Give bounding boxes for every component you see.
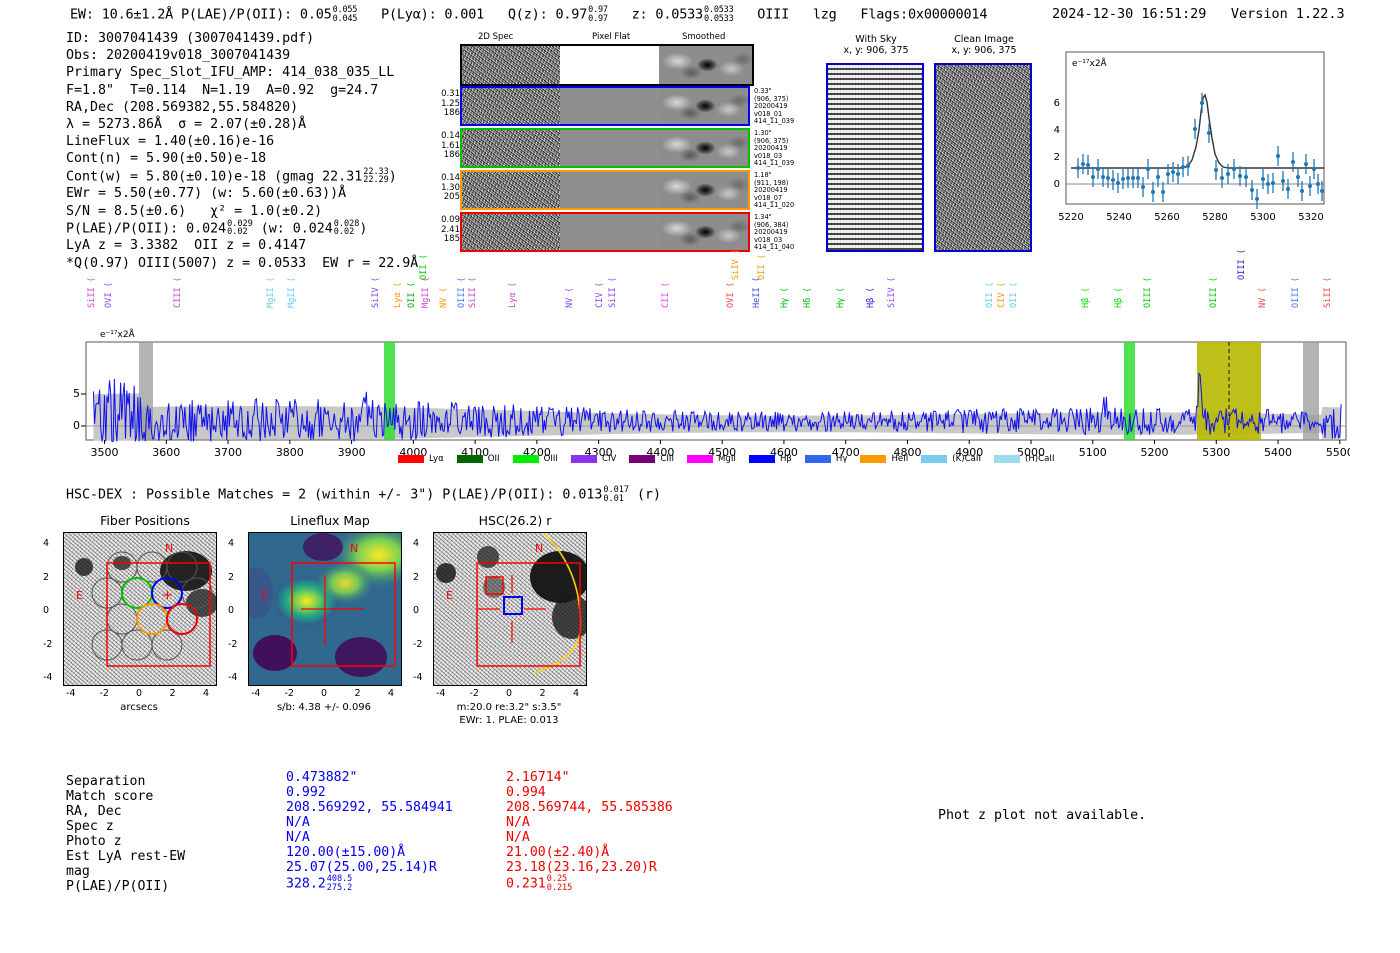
- svg-text:6: 6: [1054, 98, 1060, 109]
- legend-swatch: [860, 455, 886, 463]
- match1-separation: 0.473882": [286, 770, 357, 785]
- info-id: ID: 3007041439 (3007041439.pdf): [66, 30, 418, 47]
- svg-text:E: E: [446, 589, 453, 602]
- spectrum-xtick-3500: 3500: [91, 446, 119, 459]
- info-plae: P(LAE)/P(OII): 0.0240.0290.02 (w: 0.0240…: [66, 220, 418, 238]
- emission-line-fit-plot: e⁻¹⁷x2Å 0 2 4 6 5220 5240 5260 5280 5300…: [1038, 50, 1328, 235]
- weighted-sum-row: [460, 44, 754, 86]
- svg-text:0: 0: [73, 419, 80, 432]
- col-title-pixelflat: Pixel Flat: [592, 32, 630, 42]
- legend-label: Lyα: [429, 454, 444, 464]
- match-label-specz: Spec z: [66, 819, 114, 834]
- svg-text:5300: 5300: [1250, 212, 1275, 223]
- info-plae-w-uncertainty: 0.0280.02: [334, 220, 360, 237]
- hsc-r-image[interactable]: N E: [433, 532, 587, 686]
- line-label-oiii-33: OIII (: [1209, 277, 1219, 308]
- cutout-0-xtick-3: 2: [170, 688, 176, 699]
- svg-text:N: N: [350, 542, 358, 555]
- match-label-plae: P(LAE)/P(OII): [66, 879, 169, 894]
- qz-uncertainty: 0.970.97: [588, 6, 608, 23]
- info-seeing: F=1.8" T=0.114 N=1.19 A=0.92 g=24.7: [66, 82, 418, 99]
- match1-specz: N/A: [286, 815, 310, 830]
- spectrum-xtick-5100: 5100: [1079, 446, 1107, 459]
- cutout-1-xtick-3: 2: [355, 688, 361, 699]
- legend-label: MgII: [718, 454, 736, 464]
- legend-item-ly: Lyα: [398, 454, 444, 464]
- legend-swatch: [457, 455, 483, 463]
- source-info-block: ID: 3007041439 (3007041439.pdf) Obs: 202…: [66, 30, 418, 272]
- cutout-0-xtick-4: 4: [203, 688, 209, 699]
- legend-label: CIV: [602, 454, 616, 464]
- gmag-uncertainty: 22.3322.29: [363, 168, 389, 185]
- cutout-0-xtick-0: -4: [66, 688, 75, 699]
- emission-line-labels: SiII (OVI (CIII (MgII (MgII (SiIV (Lyα (…: [60, 268, 1350, 343]
- header-plya: P(Lyα): 0.001: [381, 7, 484, 23]
- header-ew-plae: EW: 10.6±1.2Å P(LAE)/P(OII): 0.05: [70, 7, 332, 23]
- line-label-nv-14: NV (: [565, 287, 575, 308]
- line-label-h-25: Hβ (: [866, 287, 876, 308]
- legend-item-hcaii: (H)CaII: [994, 454, 1055, 464]
- line-label-mgii-8: MgII (: [421, 277, 431, 308]
- band-oii: [384, 342, 395, 440]
- fiber-row-0[interactable]: [460, 86, 750, 126]
- header-qz: Q(z): 0.97: [508, 7, 587, 23]
- header-right: 2024-12-30 16:51:29 Version 1.22.3: [1052, 6, 1345, 22]
- cutout-1-xtick-1: -2: [285, 688, 294, 699]
- line-label-siii-37: SiII (: [1323, 277, 1333, 308]
- line-label-ciii-2: CIII (: [173, 277, 183, 308]
- line-label-ovi-18: OVI (: [726, 282, 736, 308]
- cutout-2-xtick-2: 0: [506, 688, 512, 699]
- info-primary-spec: Primary Spec_Slot_IFU_AMP: 414_038_035_L…: [66, 64, 418, 81]
- info-radec: RA,Dec (208.569382,55.584820): [66, 99, 418, 116]
- fiber-positions-xlabel: arcsecs: [63, 702, 215, 713]
- plae-uncertainty: 0.0550.045: [333, 6, 358, 23]
- svg-text:2: 2: [1054, 152, 1060, 163]
- line-label-h-30: Hβ (: [1081, 287, 1091, 308]
- line-label-ovi-1: OVI (: [104, 282, 114, 308]
- header-summary-line: EW: 10.6±1.2Å P(LAE)/P(OII): 0.050.0550.…: [70, 6, 987, 23]
- cutout-0-ytick-4: -4: [43, 672, 52, 683]
- line-label-h-24: Hγ (: [836, 287, 846, 308]
- match-label-score: Match score: [66, 789, 153, 804]
- spectrum-xtick-3800: 3800: [276, 446, 304, 459]
- legend-swatch: [629, 455, 655, 463]
- match-label-mag: mag: [66, 864, 90, 879]
- fiber-2-meta: 1.18" (911, 198) 20200419 v018_07 414_11…: [754, 172, 794, 210]
- header-flags: Flags:0x00000014: [860, 7, 987, 23]
- fiber-0-stats: 0.311.25186: [426, 90, 460, 119]
- lineflux-map-title: Lineflux Map: [245, 513, 415, 528]
- legend-item-mgii: MgII: [687, 454, 736, 464]
- line-label-oiii-36: OIII (: [1291, 277, 1301, 308]
- legend-label: OII: [488, 454, 500, 464]
- fit-unit-label: e⁻¹⁷x2Å: [1072, 57, 1108, 69]
- spectrum-legend: LyαOIIOIIICIVCIIIMgIIHβHγHeII(K)CaII(H)C…: [398, 448, 1068, 467]
- cutout-0-xtick-1: -2: [100, 688, 109, 699]
- match1-mag: 25.07(25.00,25.14)R: [286, 860, 437, 875]
- report-datetime: 2024-12-30 16:51:29: [1052, 6, 1206, 22]
- fiber-3-meta: 1.34" (906, 384) 20200419 v018_03 414_11…: [754, 214, 794, 252]
- col-title-2dspec: 2D Spec: [478, 32, 513, 42]
- spectrum-xtick-5500: 5500: [1326, 446, 1350, 459]
- hsc-plae-uncertainty: 0.0170.01: [603, 486, 629, 503]
- spectrum-xtick-5300: 5300: [1202, 446, 1230, 459]
- line-label-h-23: Hδ (: [803, 287, 813, 308]
- header-z: z: 0.0533: [632, 7, 703, 23]
- spectrum-xtick-5200: 5200: [1141, 446, 1169, 459]
- info-plae-uncertainty: 0.0290.02: [227, 220, 253, 237]
- legend-item-ciii: CIII: [629, 454, 674, 464]
- cutout-2-xtick-1: -2: [470, 688, 479, 699]
- fiber-row-1[interactable]: [460, 128, 750, 168]
- match-label-separation: Separation: [66, 774, 145, 789]
- full-spectrum-panel: SiII (OVI (CIII (MgII (MgII (SiIV (Lyα (…: [60, 268, 1350, 473]
- hsc-r-title: HSC(26.2) r: [430, 513, 600, 528]
- legend-label: (H)CaII: [1025, 454, 1055, 464]
- line-label-civ-28: CIV (: [997, 282, 1007, 308]
- fiber-3-stats: 0.092.41185: [426, 216, 460, 245]
- spectrum-xtick-5400: 5400: [1264, 446, 1292, 459]
- line-label-h-22: Hγ (: [780, 287, 790, 308]
- line-label-nv-9: NV (: [439, 287, 449, 308]
- header-tag: lzg: [813, 7, 837, 23]
- line-label-oiii-11: OIII (: [457, 277, 467, 308]
- hsc-dex-headline: HSC-DEX : Possible Matches = 2 (within +…: [66, 486, 661, 503]
- line-label-oii-27: OII (: [985, 282, 995, 308]
- cutout-0-ytick-1: 2: [43, 572, 49, 583]
- clean-image-title: Clean Imagex, y: 906, 375: [934, 34, 1034, 56]
- cutout-0-xtick-2: 0: [136, 688, 142, 699]
- cutout-1-ytick-3: -2: [228, 639, 237, 650]
- fiber-1-meta: 1.30" (906, 375) 20200419 v018_03 414_11…: [754, 130, 794, 168]
- info-ewr: EWr = 5.50(±0.77) (w: 5.60(±0.63))Å: [66, 185, 418, 202]
- svg-text:E: E: [261, 589, 268, 602]
- legend-item-h: Hβ: [749, 454, 792, 464]
- match1-plae: 328.2408.5275.2: [286, 875, 352, 892]
- match1-plae-uncertainty: 408.5275.2: [327, 875, 353, 892]
- fiber-0-meta: 0.33" (906, 375) 20200419 v018_01 414_11…: [754, 88, 794, 126]
- match1-photoz: N/A: [286, 830, 310, 845]
- cutout-2-ytick-1: 2: [413, 572, 419, 583]
- fiber-row-2[interactable]: [460, 170, 750, 210]
- cutout-0-ytick-3: -2: [43, 639, 52, 650]
- line-label-siii-0: SiII (: [87, 277, 97, 308]
- legend-swatch: [398, 455, 424, 463]
- legend-item-civ: CIV: [571, 454, 616, 464]
- cutout-2-xtick-4: 4: [573, 688, 579, 699]
- cutout-1-ytick-1: 2: [228, 572, 234, 583]
- legend-label: HeII: [891, 454, 908, 464]
- fiber-positions-image[interactable]: N E +: [63, 532, 217, 686]
- line-label-siii-16: SiII (: [608, 277, 618, 308]
- line-label-oii-10: OII (: [419, 254, 429, 280]
- spectrum-svg: 0 5 350036003700380039004000410042004300…: [60, 340, 1350, 465]
- svg-text:5220: 5220: [1058, 212, 1083, 223]
- line-label-siiv-5: SiIV (: [371, 277, 381, 308]
- cutout-2-ytick-0: 4: [413, 538, 419, 549]
- spectrum-unit-label: e⁻¹⁷x2Å: [100, 330, 135, 340]
- line-label-siiv-19: SiIV (: [731, 249, 741, 280]
- legend-item-oii: OII: [457, 454, 500, 464]
- match1-radec: 208.569292, 55.584941: [286, 800, 453, 815]
- col-title-smoothed: Smoothed: [682, 32, 725, 42]
- match2-photoz: N/A: [506, 830, 530, 845]
- svg-text:N: N: [535, 542, 543, 555]
- line-label-oiii-34: OIII (: [1237, 249, 1247, 280]
- line-label-ly-6: Lyα (: [393, 282, 403, 308]
- lineflux-map-image[interactable]: N E: [248, 532, 402, 686]
- svg-text:5240: 5240: [1106, 212, 1131, 223]
- info-obs: Obs: 20200419v018_3007041439: [66, 47, 418, 64]
- legend-label: Hβ: [780, 454, 792, 464]
- cutout-2-ytick-2: 0: [413, 605, 419, 616]
- svg-text:5280: 5280: [1202, 212, 1227, 223]
- legend-label: (K)CaII: [952, 454, 981, 464]
- fiber-row-3[interactable]: [460, 212, 750, 252]
- fiber-1-stats: 0.141.61186: [426, 132, 460, 161]
- match2-estlyaew: 21.00(±2.40)Å: [506, 845, 609, 860]
- line-label-heii-20: HeII (: [752, 277, 762, 308]
- line-label-cii-17: CII (: [661, 282, 671, 308]
- legend-swatch: [921, 455, 947, 463]
- cutout-0-ytick-2: 0: [43, 605, 49, 616]
- line-label-siiv-26: SiIV (: [887, 277, 897, 308]
- line-label-ly-13: Lyα (: [508, 282, 518, 308]
- info-lineflux: LineFlux = 1.40(±0.16)e-16: [66, 133, 418, 150]
- svg-text:E: E: [76, 589, 83, 602]
- header-classification: OIII: [757, 7, 789, 23]
- clean-image[interactable]: [934, 63, 1032, 252]
- fit-plot-svg: e⁻¹⁷x2Å 0 2 4 6 5220 5240 5260 5280 5300…: [1038, 50, 1328, 250]
- cutout-1-xtick-4: 4: [388, 688, 394, 699]
- cutout-2-xtick-3: 2: [540, 688, 546, 699]
- with-sky-image[interactable]: [826, 63, 924, 252]
- match2-plae-uncertainty: 0.250.215: [547, 875, 573, 892]
- cutout-1-ytick-2: 0: [228, 605, 234, 616]
- fiber-2-stats: 0.141.30205: [426, 174, 460, 203]
- match2-separation: 2.16714": [506, 770, 570, 785]
- legend-label: CIII: [660, 454, 674, 464]
- spectrum-xtick-3600: 3600: [152, 446, 180, 459]
- legend-item-oiii: OIII: [513, 454, 558, 464]
- legend-swatch: [687, 455, 713, 463]
- line-label-oiii-32: OIII (: [1143, 277, 1153, 308]
- line-label-siii-12: SiII (: [468, 277, 478, 308]
- match1-score: 0.992: [286, 785, 326, 800]
- line-label-civ-15: CIV (: [595, 282, 605, 308]
- line-label-nv-35: NV (: [1258, 287, 1268, 308]
- lineflux-map-sub: s/b: 4.38 +/- 0.096: [238, 702, 410, 713]
- match2-plae: 0.2310.250.215: [506, 875, 572, 892]
- legend-swatch: [805, 455, 831, 463]
- match2-specz: N/A: [506, 815, 530, 830]
- legend-swatch: [994, 455, 1020, 463]
- line-label-h-31: Hβ (: [1114, 287, 1124, 308]
- match-label-photoz: Photo z: [66, 834, 122, 849]
- hsc-r-sub2: EWr: 1. PLAE: 0.013: [423, 715, 595, 726]
- svg-text:0: 0: [1054, 179, 1060, 190]
- legend-swatch: [513, 455, 539, 463]
- svg-text:5260: 5260: [1154, 212, 1179, 223]
- legend-item-kcaii: (K)CaII: [921, 454, 981, 464]
- legend-swatch: [749, 455, 775, 463]
- match-table: Separation Match score RA, Dec Spec z Ph…: [66, 774, 766, 896]
- line-label-mgii-3: MgII (: [266, 277, 276, 308]
- with-sky-title: With Skyx, y: 906, 375: [826, 34, 926, 56]
- z-uncertainty: 0.05330.0533: [704, 6, 734, 23]
- cutout-1-ytick-4: -4: [228, 672, 237, 683]
- line-label-mgii-4: MgII (: [287, 277, 297, 308]
- photz-note: Phot z plot not available.: [938, 808, 1146, 823]
- hsc-r-sub: m:20.0 re:3.2" s:3.5": [423, 702, 595, 713]
- cutout-1-xtick-0: -4: [251, 688, 260, 699]
- legend-swatch: [571, 455, 597, 463]
- info-lambda-sigma: λ = 5273.86Å σ = 2.07(±0.28)Å: [66, 116, 418, 133]
- svg-text:5320: 5320: [1298, 212, 1323, 223]
- cutout-1-xtick-2: 0: [321, 688, 327, 699]
- line-label-oii-21: OII (: [757, 254, 767, 280]
- legend-item-heii: HeII: [860, 454, 908, 464]
- legend-item-h: Hγ: [805, 454, 848, 464]
- info-sn-chi2: S/N = 8.5(±0.6) χ² = 1.0(±0.2): [66, 203, 418, 220]
- match2-score: 0.994: [506, 785, 546, 800]
- info-cont-w: Cont(w) = 5.80(±0.10)e-18 (gmag 22.3122.…: [66, 168, 418, 186]
- legend-label: OIII: [544, 454, 558, 464]
- info-cont-n: Cont(n) = 5.90(±0.50)e-18: [66, 150, 418, 167]
- spectrum-xtick-3700: 3700: [214, 446, 242, 459]
- cutout-1-ytick-0: 4: [228, 538, 234, 549]
- svg-text:+: +: [162, 588, 173, 603]
- svg-text:N: N: [165, 542, 173, 555]
- match2-mag: 23.18(23.16,23.20)R: [506, 860, 657, 875]
- report-version: Version 1.22.3: [1231, 6, 1345, 22]
- info-redshifts: LyA z = 3.3382 OII z = 0.4147: [66, 237, 418, 254]
- line-label-oii-7: OII (: [407, 282, 417, 308]
- cutout-2-ytick-3: -2: [413, 639, 422, 650]
- spectrum-xtick-3900: 3900: [338, 446, 366, 459]
- svg-text:5: 5: [73, 387, 80, 400]
- cutout-0-ytick-0: 4: [43, 538, 49, 549]
- match-label-radec: RA, Dec: [66, 804, 122, 819]
- legend-label: Hγ: [836, 454, 848, 464]
- match-label-estlyaew: Est LyA rest-EW: [66, 849, 185, 864]
- match2-radec: 208.569744, 55.585386: [506, 800, 673, 815]
- line-label-oii-29: OII (: [1009, 282, 1019, 308]
- cutout-2-ytick-4: -4: [413, 672, 422, 683]
- fiber-positions-title: Fiber Positions: [60, 513, 230, 528]
- cutout-2-xtick-0: -4: [436, 688, 445, 699]
- match1-estlyaew: 120.00(±15.00)Å: [286, 845, 405, 860]
- svg-text:4: 4: [1054, 125, 1060, 136]
